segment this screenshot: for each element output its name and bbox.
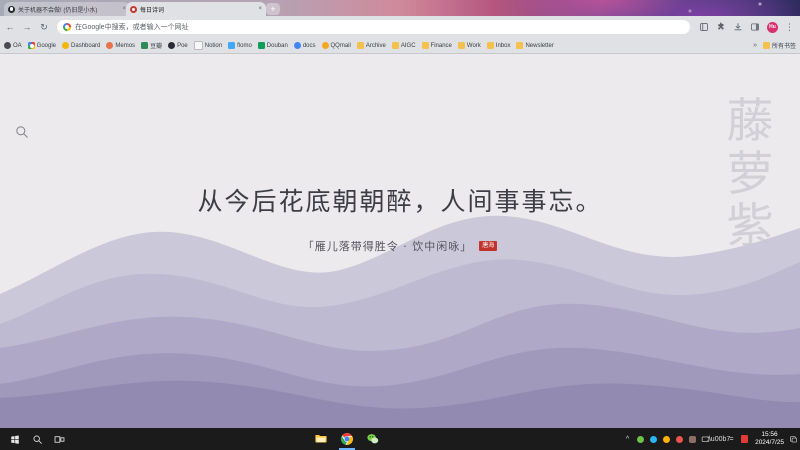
taskbar-app-google-chrome[interactable] (334, 428, 360, 450)
google-icon (28, 42, 35, 49)
browser-tab-1[interactable]: 关于机器不会做! (仍旧是小水) × (4, 2, 130, 16)
address-bar[interactable]: 在Google中搜索，或者输入一个网址 (57, 20, 690, 34)
browser-menu-button[interactable]: ⋮ (785, 22, 794, 32)
folder-icon (357, 42, 364, 49)
bookmark-favicon (258, 42, 265, 49)
windows-taskbar: ^ :\u00b7 = 15:56 2024/7/25 (0, 428, 800, 450)
downloads-icon[interactable] (733, 22, 743, 32)
toolbar-icons: Hu ⋮ (699, 22, 796, 33)
bookmark-label: docs (303, 43, 316, 49)
folder-icon (422, 42, 429, 49)
chrome-icon (340, 432, 354, 446)
bookmark-folder[interactable]: Work (458, 42, 481, 49)
bookmark-favicon (294, 42, 301, 49)
input-method-icon[interactable]: = (725, 428, 738, 450)
folder-icon (763, 42, 770, 49)
bookmark-label: Google (37, 43, 56, 49)
bookmark-label: QQmail (331, 43, 351, 49)
bookmark-label: Poe (177, 43, 188, 49)
bookmark-label: Inbox (496, 43, 511, 49)
bookmark-label: Notion (205, 43, 222, 49)
tab-close-icon[interactable]: × (258, 6, 262, 12)
poem-block: 从今后花底朝朝醉，人间事事忘。 「雁儿落带得胜令 · 饮中闲咏」 唐海 (0, 54, 800, 254)
file-explorer-icon (314, 432, 328, 446)
address-bar-placeholder: 在Google中搜索，或者输入一个网址 (75, 22, 189, 32)
task-view-button[interactable] (48, 428, 70, 450)
chrome-browser-window: 关于机器不会做! (仍旧是小水) × 每日诗词 × + ← → ↻ 在Googl… (0, 0, 800, 428)
folder-icon (516, 42, 523, 49)
bookmark-item[interactable]: Poe (168, 42, 188, 49)
p-app-icon[interactable] (660, 428, 673, 450)
extensions-icon[interactable] (716, 22, 726, 32)
taskbar-left (0, 428, 70, 450)
bookmark-label: flomo (237, 43, 252, 49)
sogou-pinyin-icon[interactable] (738, 428, 751, 450)
side-panel-icon[interactable] (750, 22, 760, 32)
bookmark-folder[interactable]: AIGC (392, 42, 416, 49)
qq-icon[interactable] (647, 428, 660, 450)
bookmark-label: Finance (431, 43, 452, 49)
bookmark-favicon (106, 42, 113, 49)
bookmark-favicon (62, 42, 69, 49)
taskbar-app-file-explorer[interactable] (308, 428, 334, 450)
green-app-icon[interactable] (634, 428, 647, 450)
start-button[interactable] (4, 428, 26, 450)
show-desktop-button[interactable] (788, 428, 798, 450)
bookmark-item[interactable]: 豆瓣 (141, 41, 162, 50)
status-badge: 唐海 (479, 241, 497, 250)
bookmark-favicon (168, 42, 175, 49)
screen: 关于机器不会做! (仍旧是小水) × 每日诗词 × + ← → ↻ 在Googl… (0, 0, 800, 450)
taskbar-clock[interactable]: 15:56 2024/7/25 (751, 431, 788, 447)
bookmark-label: Memos (115, 43, 135, 49)
bookmark-item[interactable]: Douban (258, 42, 288, 49)
poetry-icon (130, 6, 137, 13)
sogou-icon[interactable] (686, 428, 699, 450)
all-bookmarks-button[interactable]: 所有书签 (763, 41, 796, 50)
new-tab-button[interactable]: + (266, 3, 280, 15)
avatar[interactable]: Hu (767, 22, 778, 33)
taskbar-apps (308, 428, 386, 450)
bookmark-label: Dashboard (71, 43, 100, 49)
bookmark-label: Archive (366, 43, 386, 49)
bookmark-folder[interactable]: Inbox (487, 42, 511, 49)
system-tray: ^ :\u00b7 = 15:56 2024/7/25 (621, 428, 800, 450)
bookmark-favicon (228, 42, 235, 49)
tab-strip: 关于机器不会做! (仍旧是小水) × 每日诗词 × + (0, 0, 800, 16)
wechat-icon (366, 432, 380, 446)
poem-line: 从今后花底朝朝醉，人间事事忘。 (0, 182, 800, 218)
reading-list-icon[interactable] (699, 22, 709, 32)
bookmark-label: OA (13, 43, 22, 49)
bookmark-item[interactable]: QQmail (322, 42, 351, 49)
bookmark-folder[interactable]: Finance (422, 42, 452, 49)
bookmark-favicon (322, 42, 329, 49)
poetry-page: 藤 萝 紫 从今后花底朝朝醉，人间事事忘。 「雁儿落带得胜令 · 饮中闲咏」 唐… (0, 54, 800, 428)
browser-toolbar: ← → ↻ 在Google中搜索，或者输入一个网址 (0, 16, 800, 38)
folder-icon (487, 42, 494, 49)
poem-source-row: 「雁儿落带得胜令 · 饮中闲咏」 唐海 (0, 238, 800, 254)
folder-icon (458, 42, 465, 49)
bookmark-label: Newsletter (525, 43, 553, 49)
taskbar-search-button[interactable] (26, 428, 48, 450)
bookmark-item[interactable]: OA (4, 42, 22, 49)
bookmark-item[interactable]: docs (294, 42, 316, 49)
all-bookmarks-label: 所有书签 (772, 41, 796, 50)
bookmark-item[interactable]: Notion (194, 41, 222, 50)
back-button[interactable]: ← (4, 21, 16, 33)
github-icon (8, 6, 15, 13)
task-view-icon (54, 434, 65, 445)
g-app-icon[interactable] (673, 428, 686, 450)
search-icon (32, 434, 43, 445)
folder-icon (392, 42, 399, 49)
bookmark-folder[interactable]: Archive (357, 42, 386, 49)
tab-title: 关于机器不会做! (仍旧是小水) (18, 5, 119, 14)
bookmark-item[interactable]: Dashboard (62, 42, 100, 49)
taskbar-app-wechat[interactable] (360, 428, 386, 450)
bookmarks-bar: OA Google Dashboard Memos 豆瓣 Poe Notion … (0, 38, 800, 54)
google-icon (63, 23, 71, 31)
bookmark-item[interactable]: Google (28, 42, 56, 49)
bookmark-label: Douban (267, 43, 288, 49)
chevron-up-icon[interactable]: ^ (621, 428, 634, 450)
volume-icon[interactable]: :\u00b7 (712, 428, 725, 450)
bookmark-item[interactable]: Memos (106, 42, 135, 49)
bookmarks-overflow-button[interactable]: » (753, 42, 757, 49)
bookmark-item[interactable]: flomo (228, 42, 252, 49)
clock-date: 2024/7/25 (755, 439, 784, 447)
forward-button[interactable]: → (21, 21, 33, 33)
bookmark-folder[interactable]: Newsletter (516, 42, 553, 49)
bookmark-label: 豆瓣 (150, 41, 162, 50)
bookmark-label: AIGC (401, 43, 416, 49)
tab-title: 每日诗词 (140, 5, 255, 14)
bookmark-favicon (141, 42, 148, 49)
browser-tab-2[interactable]: 每日诗词 × (126, 2, 266, 16)
bookmark-favicon (194, 41, 203, 50)
bookmark-favicon (4, 42, 11, 49)
windows-icon (10, 434, 20, 444)
reload-button[interactable]: ↻ (38, 21, 50, 33)
notification-icon (789, 435, 798, 444)
bookmark-label: Work (467, 43, 481, 49)
poem-source: 「雁儿落带得胜令 · 饮中闲咏」 (303, 238, 473, 254)
clock-time: 15:56 (755, 431, 784, 439)
